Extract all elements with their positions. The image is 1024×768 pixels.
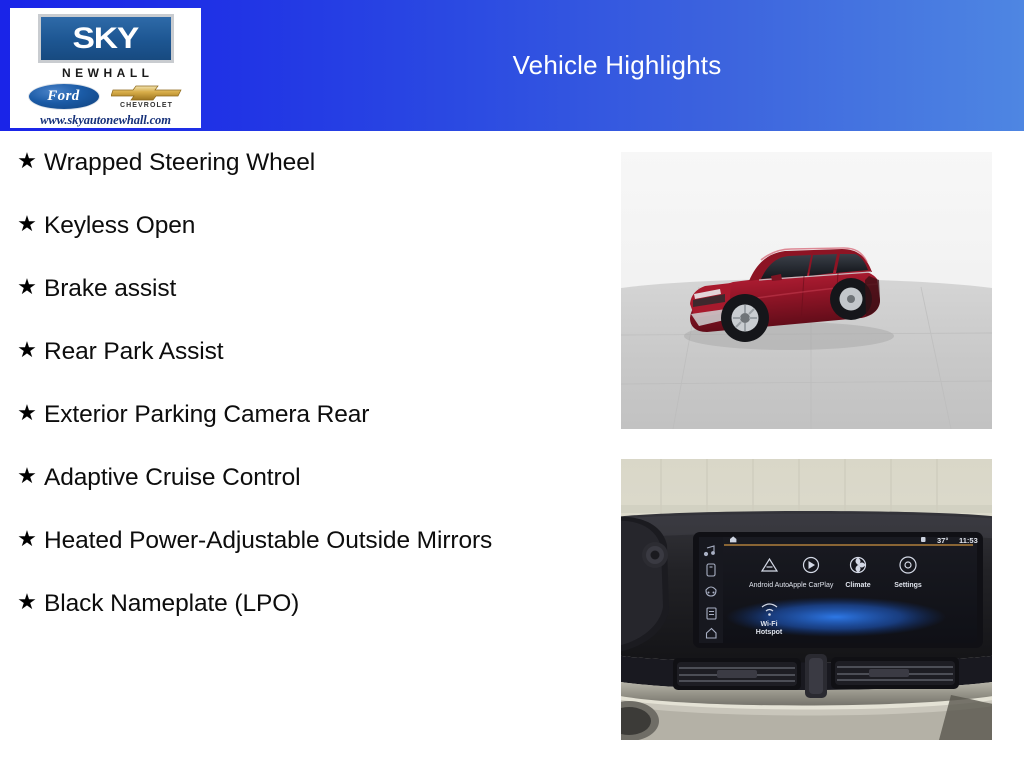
svg-text:Android Auto: Android Auto — [749, 582, 789, 589]
vehicle-exterior-image — [621, 152, 992, 429]
star-bullet-icon: ★ — [10, 524, 44, 554]
list-item: ★ Brake assist — [10, 272, 570, 306]
list-item: ★ Wrapped Steering Wheel — [10, 146, 570, 180]
star-bullet-icon: ★ — [10, 461, 44, 491]
svg-text:Climate: Climate — [845, 582, 870, 589]
list-item: ★ Adaptive Cruise Control — [10, 461, 570, 495]
list-item: ★ Exterior Parking Camera Rear — [10, 398, 570, 432]
chevrolet-logo-icon: CHEVROLET — [110, 84, 184, 109]
chevrolet-logo-label: CHEVROLET — [120, 102, 173, 109]
dealer-logo[interactable]: SKY NEWHALL Ford CHEVROLET — [10, 8, 201, 128]
list-item: ★ Heated Power-Adjustable Outside Mirror… — [10, 524, 570, 558]
vehicle-exterior-photo[interactable] — [621, 152, 992, 429]
brand-badges: Ford CHEVROLET — [20, 83, 192, 110]
list-item-label: Rear Park Assist — [44, 335, 223, 369]
svg-text:37°: 37° — [937, 536, 948, 545]
vehicle-interior-photo[interactable]: 37° 11:53 Android A — [621, 459, 992, 740]
list-item-label: Exterior Parking Camera Rear — [44, 398, 369, 432]
list-item-label: Adaptive Cruise Control — [44, 461, 300, 495]
list-item-label: Black Nameplate (LPO) — [44, 587, 299, 621]
list-item-label: Brake assist — [44, 272, 176, 306]
sky-brand-text: SKY — [73, 24, 139, 54]
svg-text:11:53: 11:53 — [959, 536, 978, 545]
list-item: ★ Keyless Open — [10, 209, 570, 243]
list-item: ★ Rear Park Assist — [10, 335, 570, 369]
list-item: ★ Black Nameplate (LPO) — [10, 587, 570, 621]
sky-logo-plate: SKY — [38, 14, 174, 63]
dealer-location-text: NEWHALL — [58, 66, 154, 80]
star-bullet-icon: ★ — [10, 272, 44, 302]
dealer-website-text: www.skyautonewhall.com — [40, 113, 171, 128]
list-item-label: Wrapped Steering Wheel — [44, 146, 315, 180]
list-item-label: Keyless Open — [44, 209, 195, 243]
page-title: Vehicle Highlights — [210, 0, 1024, 131]
ford-logo-icon: Ford — [28, 83, 100, 110]
slide-header: Vehicle Highlights SKY NEWHALL Ford — [0, 0, 1024, 131]
star-bullet-icon: ★ — [10, 398, 44, 428]
vehicle-highlights-list: ★ Wrapped Steering Wheel ★ Keyless Open … — [10, 146, 570, 650]
star-bullet-icon: ★ — [10, 587, 44, 617]
list-item-label: Heated Power-Adjustable Outside Mirrors — [44, 524, 492, 558]
infotainment-image: 37° 11:53 Android A — [621, 459, 992, 740]
star-bullet-icon: ★ — [10, 209, 44, 239]
star-bullet-icon: ★ — [10, 335, 44, 365]
star-bullet-icon: ★ — [10, 146, 44, 176]
svg-text:Settings: Settings — [894, 582, 922, 589]
chevrolet-bowtie-icon — [111, 84, 183, 101]
svg-text:Wi-Fi: Wi-Fi — [760, 621, 777, 628]
ford-logo-label: Ford — [47, 88, 79, 105]
svg-text:Apple CarPlay: Apple CarPlay — [789, 582, 834, 589]
svg-text:Hotspot: Hotspot — [756, 629, 783, 636]
